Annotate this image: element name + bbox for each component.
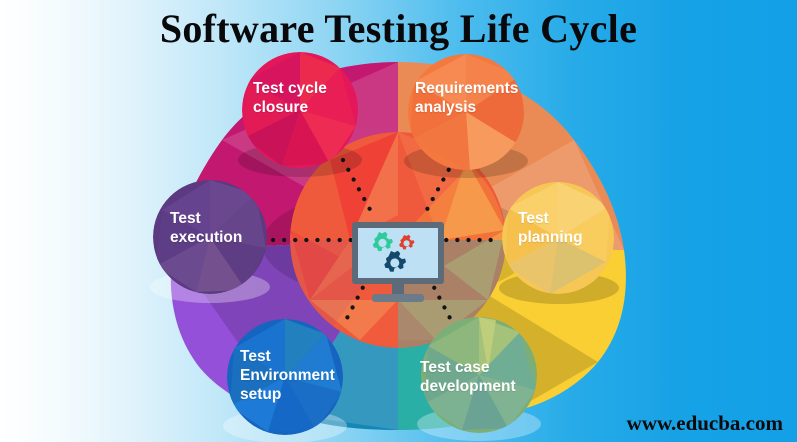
node-circle-test-environment-setup[interactable]	[227, 319, 343, 435]
stlc-diagram	[0, 0, 797, 442]
node-circle-test-case-development[interactable]	[421, 317, 537, 433]
node-circle-test-planning[interactable]	[502, 182, 614, 294]
watermark: www.educba.com	[627, 411, 783, 436]
page-title: Software Testing Life Cycle	[0, 4, 797, 54]
node-circle-test-cycle-closure[interactable]	[242, 52, 358, 168]
node-circle-test-execution[interactable]	[153, 180, 267, 294]
diagram-stage: Software Testing Life Cycle	[0, 0, 797, 442]
